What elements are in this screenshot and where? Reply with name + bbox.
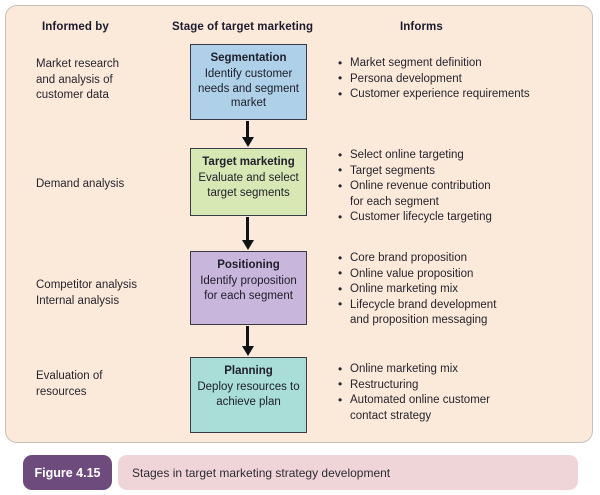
informs-list-row-4: Online marketing mix Restructuring Autom… <box>338 362 586 424</box>
figure-caption-bar: Stages in target marketing strategy deve… <box>118 455 578 490</box>
stage-description: Identify proposition for each segment <box>191 274 306 303</box>
informs-list-row-3: Core brand proposition Online value prop… <box>338 251 586 329</box>
stage-box-planning[interactable]: Planning Deploy resources to achieve pla… <box>190 357 307 433</box>
list-item-text-continuation: contact strategy <box>350 409 586 425</box>
list-item: Online revenue contribution for each seg… <box>338 179 586 210</box>
stage-description: Deploy resources to achieve plan <box>191 380 306 409</box>
list-item: Online marketing mix <box>338 282 586 298</box>
column-header-informs: Informs <box>400 21 443 33</box>
informed-by-line: resources <box>36 385 186 401</box>
arrow-segmentation-to-target-marketing <box>246 121 249 138</box>
list-item-text: Online marketing mix <box>350 363 458 375</box>
list-item: Core brand proposition <box>338 251 586 267</box>
figure-container: Informed by Stage of target marketing In… <box>0 0 600 495</box>
informed-by-row-1: Market research and analysis of customer… <box>36 57 186 104</box>
stage-box-positioning[interactable]: Positioning Identify proposition for eac… <box>190 251 307 325</box>
list-item-text: Select online targeting <box>350 149 464 161</box>
list-item: Target segments <box>338 164 586 180</box>
column-header-stage: Stage of target marketing <box>172 21 313 33</box>
informed-by-row-3: Competitor analysis Internal analysis <box>36 278 186 309</box>
list-item-text: Target segments <box>350 165 435 177</box>
stage-box-target-marketing[interactable]: Target marketing Evaluate and select tar… <box>190 148 307 216</box>
stage-title: Planning <box>191 364 306 379</box>
stage-box-segmentation[interactable]: Segmentation Identify customer needs and… <box>190 44 307 120</box>
stage-description: Identify customer needs and segment mark… <box>191 67 306 111</box>
figure-caption-text: Stages in target marketing strategy deve… <box>118 466 390 480</box>
list-item: Online marketing mix <box>338 362 586 378</box>
arrow-positioning-to-planning <box>246 326 249 347</box>
list-item-text: Online revenue contribution <box>350 180 491 192</box>
list-item-text: Online marketing mix <box>350 283 458 295</box>
list-item: Persona development <box>338 72 586 88</box>
informed-by-line: and analysis of <box>36 73 186 89</box>
figure-number-badge: Figure 4.15 <box>23 455 112 490</box>
list-item: Online value proposition <box>338 267 586 283</box>
list-item-text-continuation: and proposition messaging <box>350 313 586 329</box>
informed-by-line: customer data <box>36 88 186 104</box>
informed-by-line: Market research <box>36 57 186 73</box>
informs-list-row-1: Market segment definition Persona develo… <box>338 56 586 103</box>
list-item-text: Customer lifecycle targeting <box>350 211 492 223</box>
informed-by-line: Demand analysis <box>36 177 186 193</box>
list-item: Market segment definition <box>338 56 586 72</box>
stage-title: Target marketing <box>191 155 306 170</box>
informs-list-row-2: Select online targeting Target segments … <box>338 148 586 226</box>
list-item-text: Persona development <box>350 73 462 85</box>
informed-by-row-4: Evaluation of resources <box>36 369 186 400</box>
list-item: Select online targeting <box>338 148 586 164</box>
informed-by-line: Internal analysis <box>36 294 186 310</box>
arrow-target-marketing-to-positioning <box>246 217 249 241</box>
stage-title: Segmentation <box>191 51 306 66</box>
list-item: Restructuring <box>338 378 586 394</box>
stage-description: Evaluate and select target segments <box>191 171 306 200</box>
list-item: Automated online customer contact strate… <box>338 393 586 424</box>
stage-title: Positioning <box>191 258 306 273</box>
list-item-text: Automated online customer <box>350 394 490 406</box>
list-item: Lifecycle brand development and proposit… <box>338 298 586 329</box>
column-header-informed-by: Informed by <box>42 21 109 33</box>
list-item-text: Lifecycle brand development <box>350 299 496 311</box>
list-item: Customer experience requirements <box>338 87 586 103</box>
informed-by-row-2: Demand analysis <box>36 177 186 193</box>
list-item-text-continuation: for each segment <box>350 195 586 211</box>
list-item-text: Market segment definition <box>350 57 482 69</box>
list-item-text: Customer experience requirements <box>350 88 530 100</box>
list-item-text: Restructuring <box>350 379 418 391</box>
list-item-text: Online value proposition <box>350 268 473 280</box>
informed-by-line: Competitor analysis <box>36 278 186 294</box>
informed-by-line: Evaluation of <box>36 369 186 385</box>
list-item-text: Core brand proposition <box>350 252 467 264</box>
list-item: Customer lifecycle targeting <box>338 210 586 226</box>
